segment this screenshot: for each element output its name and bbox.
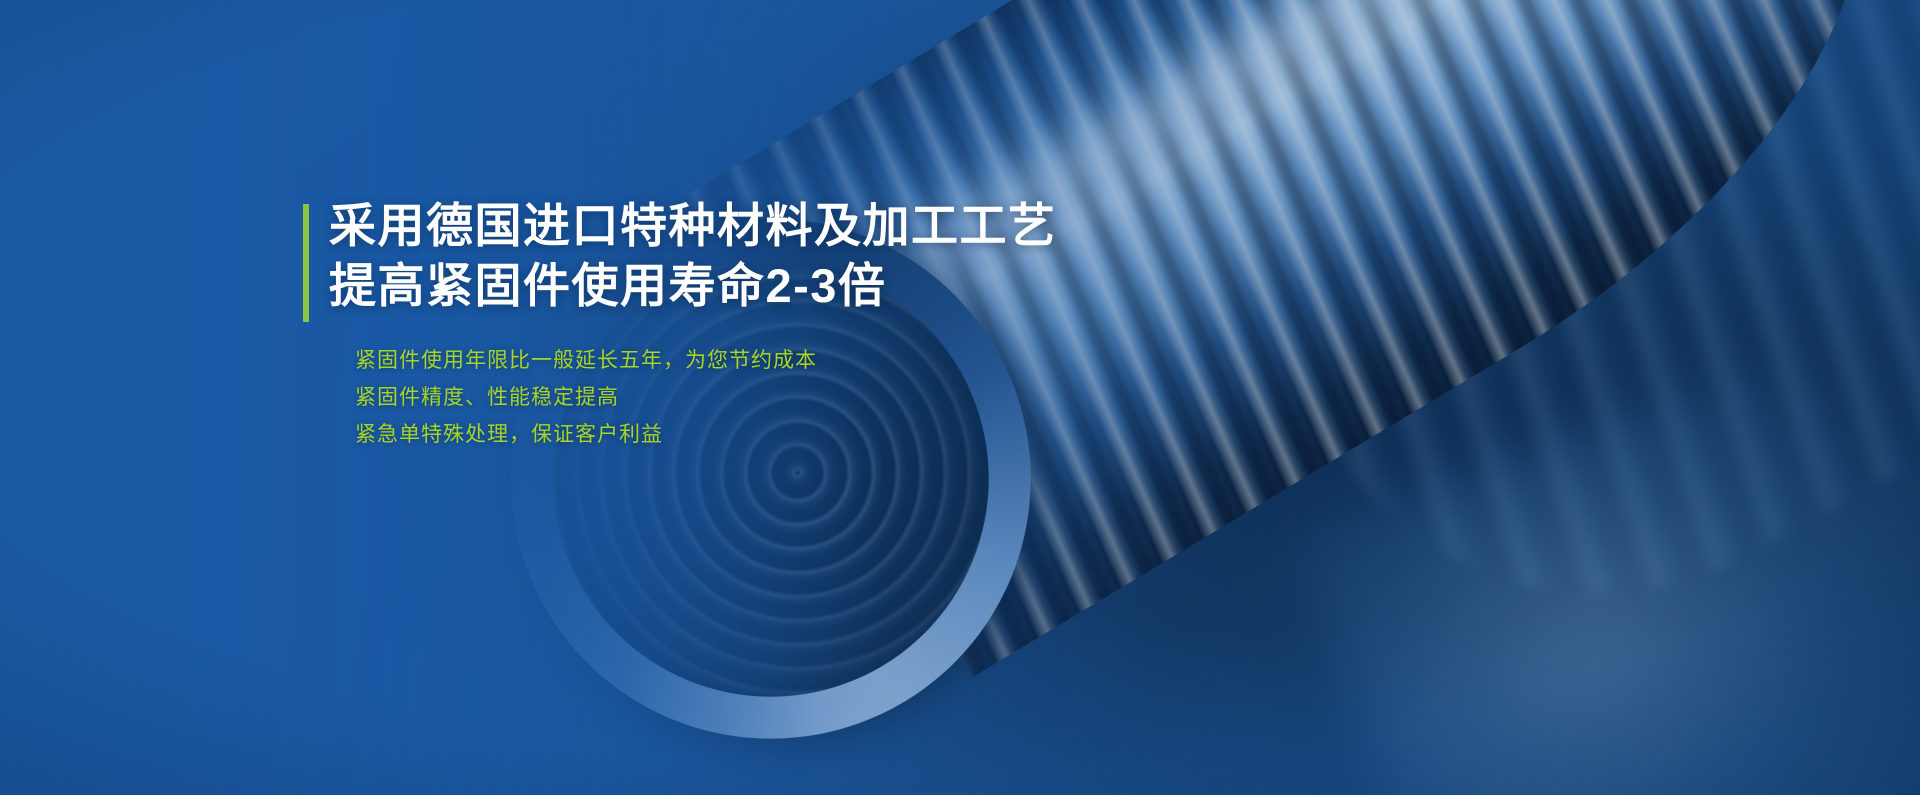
subtitle-item-1: 紧固件使用年限比一般延长五年，为您节约成本 [355, 342, 1057, 379]
banner-copy: 采用德国进口特种材料及加工工艺 提高紧固件使用寿命2-3倍 紧固件使用年限比一般… [303, 196, 1057, 453]
subtitle-list: 紧固件使用年限比一般延长五年，为您节约成本 紧固件精度、性能稳定提高 紧急单特殊… [355, 342, 1057, 453]
headline-line-1: 采用德国进口特种材料及加工工艺 [329, 196, 1057, 256]
green-accent-bar [303, 204, 309, 322]
banner-copy-text: 采用德国进口特种材料及加工工艺 提高紧固件使用寿命2-3倍 紧固件使用年限比一般… [329, 196, 1057, 453]
subtitle-item-2: 紧固件精度、性能稳定提高 [355, 379, 1057, 416]
subtitle-item-3: 紧急单特殊处理，保证客户利益 [355, 416, 1057, 453]
headline-line-2: 提高紧固件使用寿命2-3倍 [329, 256, 1057, 316]
hero-banner: 采用德国进口特种材料及加工工艺 提高紧固件使用寿命2-3倍 紧固件使用年限比一般… [0, 0, 1920, 795]
